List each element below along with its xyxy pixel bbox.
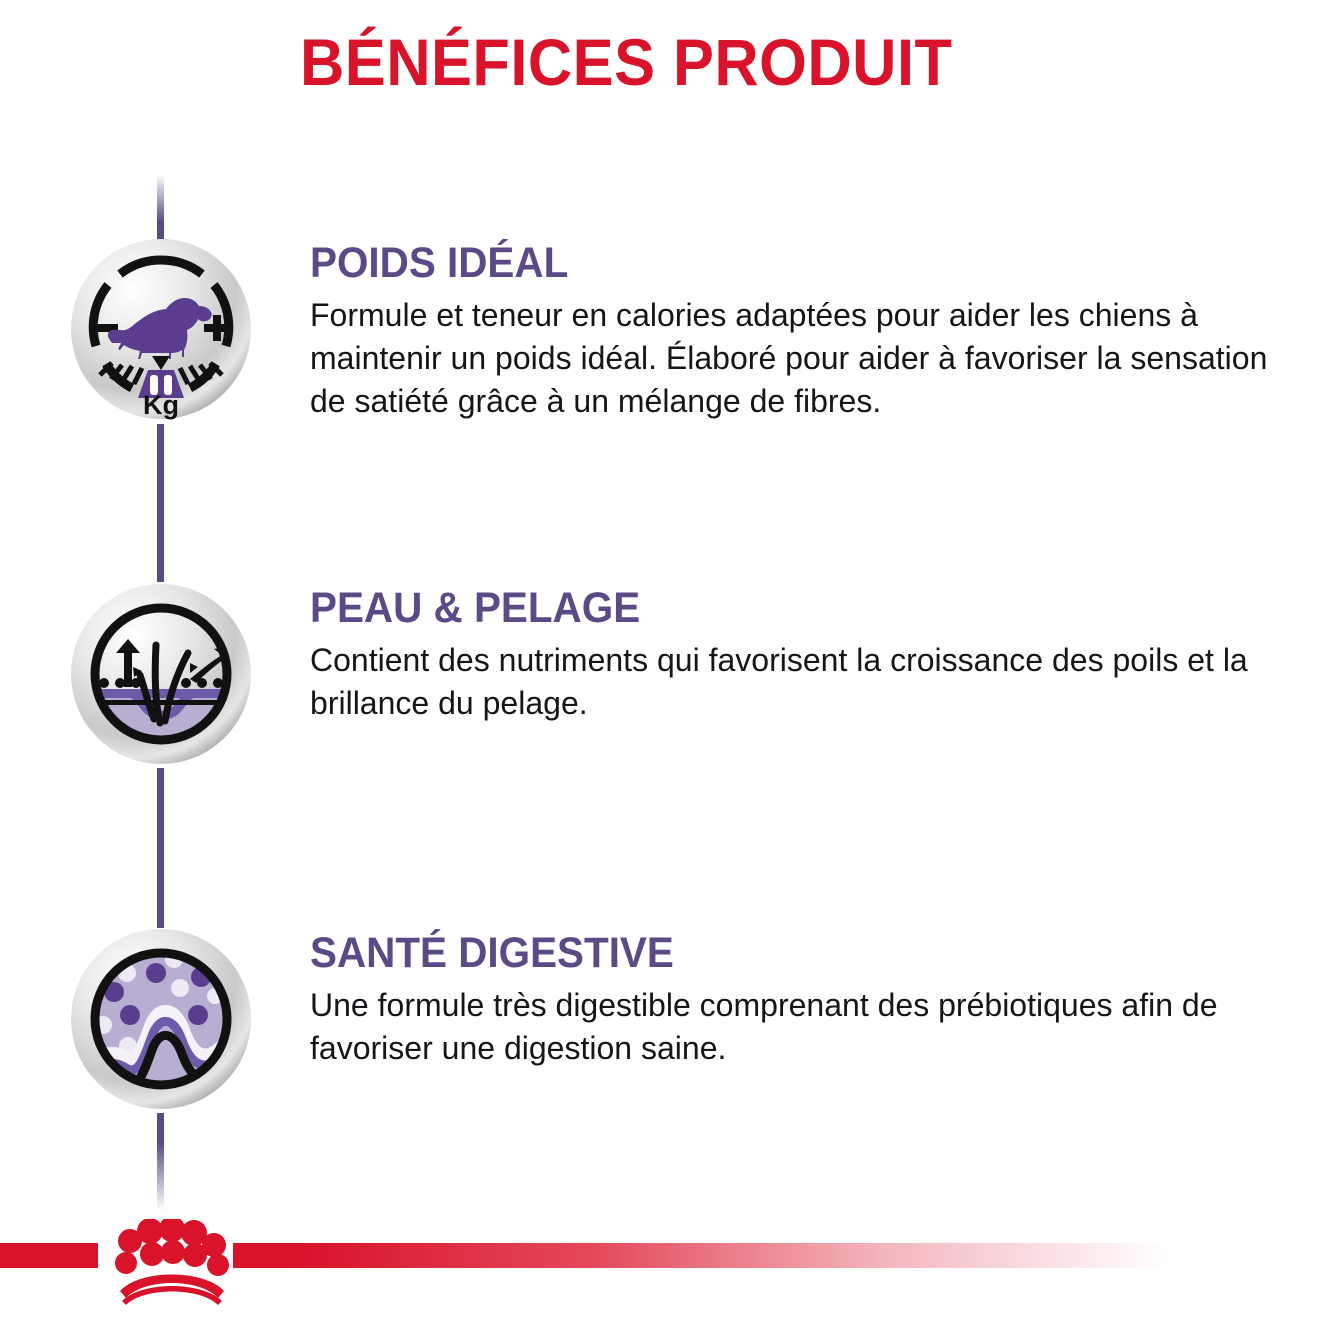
timeline-rail-segment-1 bbox=[157, 424, 164, 582]
benefit-heading: POIDS IDÉAL bbox=[310, 238, 1236, 288]
footer-bar-left bbox=[0, 1243, 98, 1268]
benefit-text-block: POIDS IDÉAL Formule et teneur en calorie… bbox=[310, 238, 1295, 423]
benefit-heading: SANTÉ DIGESTIVE bbox=[310, 928, 1236, 978]
ideal-weight-scale-icon: Kg bbox=[70, 238, 252, 420]
footer bbox=[0, 1233, 1320, 1320]
benefit-text-block: PEAU & PELAGE Contient des nutriments qu… bbox=[310, 583, 1295, 725]
benefit-description: Contient des nutriments qui favorisent l… bbox=[310, 639, 1280, 725]
page-title: BÉNÉFICES PRODUIT bbox=[300, 24, 1230, 100]
benefit-text-block: SANTÉ DIGESTIVE Une formule très digesti… bbox=[310, 928, 1295, 1070]
digestive-health-icon bbox=[70, 928, 252, 1110]
benefit-description: Formule et teneur en calories adaptées p… bbox=[310, 294, 1280, 423]
timeline-rail-segment-2 bbox=[157, 768, 164, 928]
footer-bar-right bbox=[233, 1243, 1320, 1268]
svg-text:Kg: Kg bbox=[143, 390, 179, 420]
timeline-rail-segment-bottom bbox=[157, 1113, 164, 1211]
skin-and-coat-icon bbox=[70, 583, 252, 765]
royal-canin-crown-logo bbox=[92, 1219, 238, 1307]
benefit-description: Une formule très digestible comprenant d… bbox=[310, 984, 1280, 1070]
timeline-rail-segment-top bbox=[157, 170, 164, 242]
benefit-heading: PEAU & PELAGE bbox=[310, 583, 1236, 633]
